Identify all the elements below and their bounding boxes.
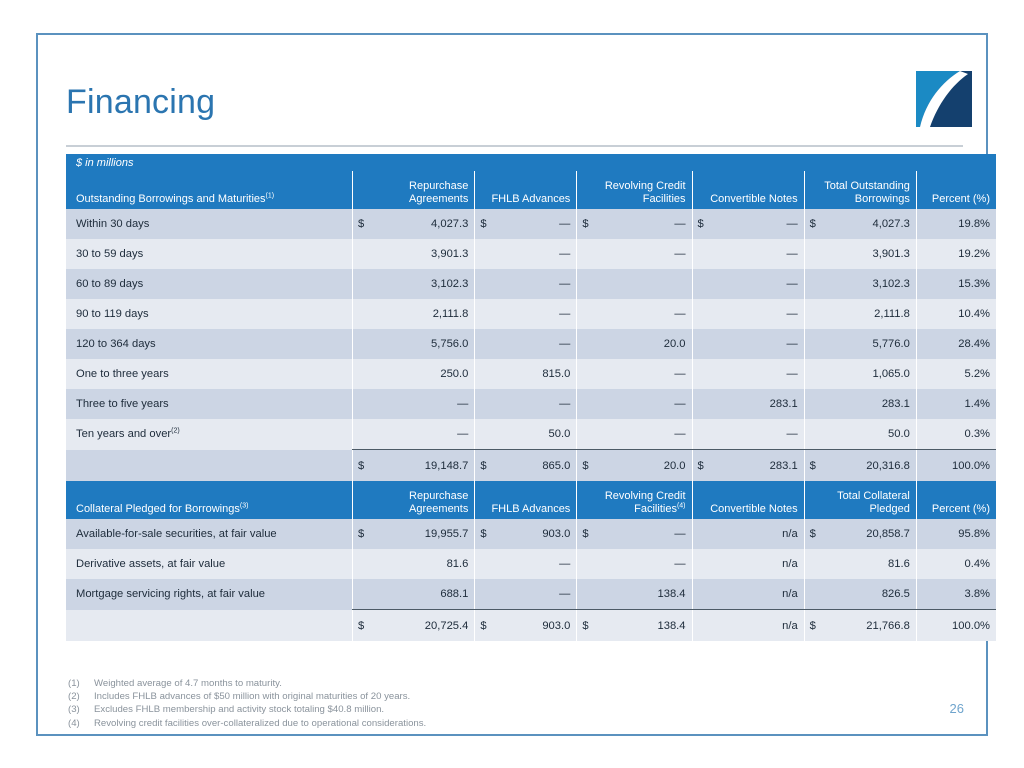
cell-value: 15.3%	[958, 278, 990, 290]
cell-value: —	[674, 368, 685, 380]
currency-symbol: $	[358, 528, 364, 540]
table-cell: 283.1	[692, 389, 804, 419]
row-label: One to three years	[66, 359, 353, 389]
currency-symbol: $	[810, 460, 816, 472]
table-cell: 0.3%	[916, 419, 996, 450]
cell-value: 4,027.3	[873, 218, 910, 230]
row-label: Mortgage servicing rights, at fair value	[66, 579, 353, 610]
cell-value: —	[786, 218, 797, 230]
cell-value: —	[674, 428, 685, 440]
cell-value: —	[786, 338, 797, 350]
table1-header-fhlb: FHLB Advances	[475, 171, 577, 209]
table-cell: —	[475, 269, 577, 299]
table-cell: 81.6	[804, 549, 916, 579]
table-cell: 3,102.3	[804, 269, 916, 299]
footnote-mark: (4)	[68, 717, 94, 730]
currency-symbol: $	[810, 218, 816, 230]
table2-header-repurchase: Repurchase Agreements	[353, 481, 475, 519]
cell-value: —	[674, 558, 685, 570]
footnote-marker-3: (3)	[240, 502, 249, 509]
currency-symbol: $	[480, 620, 486, 632]
footnote-item: (4)Revolving credit facilities over-coll…	[68, 717, 426, 730]
footnote-text: Includes FHLB advances of $50 million wi…	[94, 690, 410, 703]
row-label: 120 to 364 days	[66, 329, 353, 359]
cell-value: 50.0	[888, 428, 910, 440]
cell-value: 81.6	[888, 558, 910, 570]
currency-symbol: $	[582, 528, 588, 540]
cell-value: 20,858.7	[866, 528, 910, 540]
table-cell: 2,111.8	[353, 299, 475, 329]
table2-header-revolving: Revolving Credit Facilities(4)	[577, 481, 692, 519]
row-label: Available-for-sale securities, at fair v…	[66, 519, 353, 549]
cell-value: —	[559, 338, 570, 350]
cell-value: —	[786, 278, 797, 290]
footnote-item: (2)Includes FHLB advances of $50 million…	[68, 690, 426, 703]
table-cell: —	[475, 299, 577, 329]
table-cell: —	[577, 359, 692, 389]
currency-symbol: $	[358, 460, 364, 472]
footnote-text: Excludes FHLB membership and activity st…	[94, 703, 384, 716]
cell-value: 20,316.8	[866, 460, 910, 472]
table-cell: $20,725.4	[353, 610, 475, 642]
table-cell: 250.0	[353, 359, 475, 389]
cell-value: 21,766.8	[866, 620, 910, 632]
cell-value: n/a	[782, 528, 798, 540]
table-cell: 283.1	[804, 389, 916, 419]
cell-value: 2,111.8	[874, 308, 910, 320]
table1-header-total: Total Outstanding Borrowings	[804, 171, 916, 209]
table-cell: —	[475, 239, 577, 269]
table-cell: —	[692, 419, 804, 450]
cell-value: 20.0	[664, 460, 686, 472]
cell-value: 283.1	[770, 398, 798, 410]
table-cell: $—	[577, 519, 692, 549]
table-cell: —	[475, 389, 577, 419]
row-label: Three to five years	[66, 389, 353, 419]
footnote-mark: (2)	[68, 690, 94, 703]
table-cell: 1.4%	[916, 389, 996, 419]
table-cell: $903.0	[475, 519, 577, 549]
table-cell: 138.4	[577, 579, 692, 610]
footnote-mark: (3)	[68, 703, 94, 716]
cell-value: 3.8%	[965, 588, 991, 600]
table2-header-label: Collateral Pledged for Borrowings(3)	[66, 481, 353, 519]
table-cell: 50.0	[804, 419, 916, 450]
cell-value: 903.0	[542, 528, 570, 540]
table-cell: 19.2%	[916, 239, 996, 269]
table1-header-percent: Percent (%)	[916, 171, 996, 209]
table-cell: 19.8%	[916, 209, 996, 239]
cell-value: 28.4%	[958, 338, 990, 350]
cell-value: 100.0%	[952, 460, 990, 472]
currency-symbol: $	[358, 620, 364, 632]
table-cell: n/a	[692, 519, 804, 549]
cell-value: n/a	[782, 620, 798, 632]
table-cell: 3,901.3	[804, 239, 916, 269]
row-label: Within 30 days	[66, 209, 353, 239]
currency-symbol: $	[698, 218, 704, 230]
cell-value: —	[786, 308, 797, 320]
table-cell: 100.0%	[916, 610, 996, 642]
table2-header-row: Collateral Pledged for Borrowings(3) Rep…	[66, 481, 996, 519]
table2-header-percent: Percent (%)	[916, 481, 996, 519]
table-cell: 100.0%	[916, 450, 996, 482]
currency-symbol: $	[810, 620, 816, 632]
cell-value: 5,776.0	[873, 338, 910, 350]
footnote-item: (1)Weighted average of 4.7 months to mat…	[68, 677, 426, 690]
table-row: 90 to 119 days2,111.8———2,111.810.4%	[66, 299, 996, 329]
cell-value: —	[674, 528, 685, 540]
table-cell: $19,955.7	[353, 519, 475, 549]
table-row: 30 to 59 days3,901.3———3,901.319.2%	[66, 239, 996, 269]
units-band: $ in millions	[66, 154, 996, 171]
title-divider	[66, 145, 963, 147]
footnote-marker: (2)	[171, 428, 180, 435]
footnote-marker-1: (1)	[266, 192, 275, 199]
table2-header-convertible: Convertible Notes	[692, 481, 804, 519]
table-cell: $—	[692, 209, 804, 239]
cell-value: 100.0%	[952, 620, 990, 632]
currency-symbol: $	[582, 460, 588, 472]
total-row: $19,148.7$865.0$20.0$283.1$20,316.8100.0…	[66, 450, 996, 482]
table-cell: —	[692, 359, 804, 389]
cell-value: 81.6	[447, 558, 469, 570]
cell-value: 4,027.3	[431, 218, 468, 230]
table-cell: 95.8%	[916, 519, 996, 549]
table-cell: 10.4%	[916, 299, 996, 329]
cell-value: 3,901.3	[873, 248, 910, 260]
cell-value: 2,111.8	[433, 308, 469, 320]
cell-value: 903.0	[542, 620, 570, 632]
table-cell: $20,858.7	[804, 519, 916, 549]
table-cell: 3,901.3	[353, 239, 475, 269]
table-cell: $20,316.8	[804, 450, 916, 482]
footnote-text: Weighted average of 4.7 months to maturi…	[94, 677, 282, 690]
table-row: One to three years250.0815.0——1,065.05.2…	[66, 359, 996, 389]
table-cell: 2,111.8	[804, 299, 916, 329]
cell-value: —	[674, 218, 685, 230]
table1-header-convertible: Convertible Notes	[692, 171, 804, 209]
footnotes-block: (1)Weighted average of 4.7 months to mat…	[68, 677, 426, 730]
cell-value: 826.5	[882, 588, 910, 600]
table-cell: 15.3%	[916, 269, 996, 299]
table-cell: $903.0	[475, 610, 577, 642]
table-cell: n/a	[692, 579, 804, 610]
table-cell: 815.0	[475, 359, 577, 389]
cell-value: —	[786, 428, 797, 440]
footnote-mark: (1)	[68, 677, 94, 690]
cell-value: 3,901.3	[431, 248, 468, 260]
currency-symbol: $	[358, 218, 364, 230]
table-cell: —	[692, 299, 804, 329]
table-cell: —	[692, 269, 804, 299]
table1-header-repurchase: Repurchase Agreements	[353, 171, 475, 209]
units-label: $ in millions	[66, 154, 996, 171]
total-row: $20,725.4$903.0$138.4n/a$21,766.8100.0%	[66, 610, 996, 642]
table-cell	[577, 269, 692, 299]
table2-header-fhlb: FHLB Advances	[475, 481, 577, 519]
table-cell: —	[577, 239, 692, 269]
cell-value: —	[674, 248, 685, 260]
currency-symbol: $	[582, 620, 588, 632]
table-cell: 0.4%	[916, 549, 996, 579]
page-title: Financing	[66, 83, 215, 122]
row-label: 30 to 59 days	[66, 239, 353, 269]
table-row: Ten years and over(2)—50.0——50.00.3%	[66, 419, 996, 450]
table-cell: 3.8%	[916, 579, 996, 610]
cell-value: 19,148.7	[425, 460, 469, 472]
cell-value: —	[559, 218, 570, 230]
currency-symbol: $	[582, 218, 588, 230]
row-label: Ten years and over(2)	[66, 419, 353, 450]
table-cell: —	[577, 299, 692, 329]
cell-value: 865.0	[542, 460, 570, 472]
table-cell: $4,027.3	[804, 209, 916, 239]
table-cell: 826.5	[804, 579, 916, 610]
table-cell: 81.6	[353, 549, 475, 579]
table1-header-row: Outstanding Borrowings and Maturities(1)…	[66, 171, 996, 209]
cell-value: 19.2%	[958, 248, 990, 260]
cell-value: 19,955.7	[425, 528, 469, 540]
table-cell: $283.1	[692, 450, 804, 482]
table-cell: $20.0	[577, 450, 692, 482]
cell-value: 138.4	[658, 588, 686, 600]
table-row: Available-for-sale securities, at fair v…	[66, 519, 996, 549]
table-row: Three to five years———283.1283.11.4%	[66, 389, 996, 419]
cell-value: —	[786, 368, 797, 380]
table-cell: 5,756.0	[353, 329, 475, 359]
table-cell: —	[353, 419, 475, 450]
table1-header-label: Outstanding Borrowings and Maturities(1)	[66, 171, 353, 209]
cell-value: —	[674, 308, 685, 320]
cell-value: —	[559, 278, 570, 290]
table-cell: $—	[475, 209, 577, 239]
cell-value: 283.1	[770, 460, 798, 472]
table-cell: 688.1	[353, 579, 475, 610]
cell-value: —	[559, 248, 570, 260]
row-label: 90 to 119 days	[66, 299, 353, 329]
total-label	[66, 450, 353, 482]
table-cell: —	[692, 329, 804, 359]
cell-value: —	[457, 398, 468, 410]
table-cell: $138.4	[577, 610, 692, 642]
table-cell: —	[475, 549, 577, 579]
table-cell: $19,148.7	[353, 450, 475, 482]
footnote-text: Revolving credit facilities over-collate…	[94, 717, 426, 730]
table-cell: —	[475, 329, 577, 359]
cell-value: 10.4%	[958, 308, 990, 320]
footnote-item: (3)Excludes FHLB membership and activity…	[68, 703, 426, 716]
table-cell: 5,776.0	[804, 329, 916, 359]
table-cell: $—	[577, 209, 692, 239]
currency-symbol: $	[480, 218, 486, 230]
financing-table: $ in millions Outstanding Borrowings and…	[66, 154, 996, 641]
cell-value: 688.1	[440, 588, 468, 600]
cell-value: —	[559, 558, 570, 570]
cell-value: n/a	[782, 588, 798, 600]
cell-value: —	[559, 398, 570, 410]
page-number: 26	[950, 701, 964, 716]
cell-value: 19.8%	[958, 218, 990, 230]
financing-tables: $ in millions Outstanding Borrowings and…	[66, 154, 996, 641]
cell-value: 5,756.0	[431, 338, 468, 350]
table-cell: 50.0	[475, 419, 577, 450]
table-cell: 20.0	[577, 329, 692, 359]
currency-symbol: $	[480, 528, 486, 540]
row-label: Derivative assets, at fair value	[66, 549, 353, 579]
cell-value: 1.4%	[965, 398, 991, 410]
cell-value: 3,102.3	[873, 278, 910, 290]
cell-value: 1,065.0	[873, 368, 910, 380]
table-cell: $865.0	[475, 450, 577, 482]
cell-value: —	[786, 248, 797, 260]
table-cell: 3,102.3	[353, 269, 475, 299]
cell-value: 95.8%	[958, 528, 990, 540]
table-row: Mortgage servicing rights, at fair value…	[66, 579, 996, 610]
table-cell: n/a	[692, 610, 804, 642]
table-cell: 28.4%	[916, 329, 996, 359]
row-label: 60 to 89 days	[66, 269, 353, 299]
table-cell: —	[577, 549, 692, 579]
cell-value: 20,725.4	[425, 620, 469, 632]
cell-value: 0.4%	[965, 558, 991, 570]
cell-value: 5.2%	[965, 368, 991, 380]
currency-symbol: $	[810, 528, 816, 540]
table-row: 60 to 89 days3,102.3——3,102.315.3%	[66, 269, 996, 299]
table2-header-total: Total Collateral Pledged	[804, 481, 916, 519]
cell-value: —	[559, 308, 570, 320]
table-cell: —	[692, 239, 804, 269]
cell-value: 283.1	[882, 398, 910, 410]
cell-value: 20.0	[664, 338, 686, 350]
cell-value: —	[559, 588, 570, 600]
table1-header-revolving: Revolving Credit Facilities	[577, 171, 692, 209]
table-row: 120 to 364 days5,756.0—20.0—5,776.028.4%	[66, 329, 996, 359]
table-cell: —	[475, 579, 577, 610]
cell-value: n/a	[782, 558, 798, 570]
table-row: Derivative assets, at fair value81.6——n/…	[66, 549, 996, 579]
table-cell: n/a	[692, 549, 804, 579]
company-logo	[916, 71, 972, 127]
cell-value: 250.0	[440, 368, 468, 380]
total-label	[66, 610, 353, 642]
table-cell: —	[577, 419, 692, 450]
cell-value: 138.4	[658, 620, 686, 632]
table-cell: 1,065.0	[804, 359, 916, 389]
cell-value: 50.0	[549, 428, 571, 440]
table-cell: —	[353, 389, 475, 419]
table-cell: 5.2%	[916, 359, 996, 389]
cell-value: —	[674, 398, 685, 410]
footnote-marker-4: (4)	[677, 502, 686, 509]
cell-value: 3,102.3	[431, 278, 468, 290]
table-row: Within 30 days$4,027.3$—$—$—$4,027.319.8…	[66, 209, 996, 239]
currency-symbol: $	[480, 460, 486, 472]
currency-symbol: $	[698, 460, 704, 472]
slide-frame: Financing $ in millions Outstanding	[36, 33, 988, 736]
cell-value: 815.0	[542, 368, 570, 380]
cell-value: —	[457, 428, 468, 440]
cell-value: 0.3%	[965, 428, 991, 440]
table-cell: $4,027.3	[353, 209, 475, 239]
table-cell: $21,766.8	[804, 610, 916, 642]
table-cell: —	[577, 389, 692, 419]
